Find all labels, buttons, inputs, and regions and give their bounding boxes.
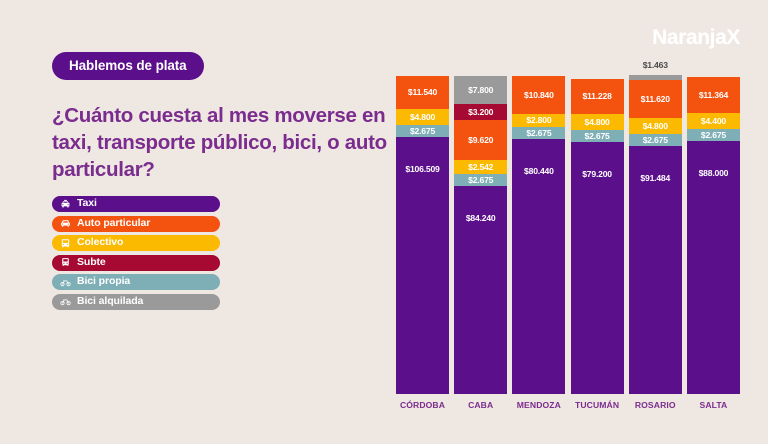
legend-item-colectivo[interactable]: Colectivo xyxy=(52,235,220,251)
bar-segment-value: $2.675 xyxy=(468,176,493,185)
bar-segment-bici_propia[interactable]: $2.675 xyxy=(512,127,565,139)
legend-item-auto_particular[interactable]: Auto particular xyxy=(52,216,220,232)
page-title: ¿Cuánto cuesta al mes moverse en taxi, t… xyxy=(52,102,392,183)
bar-segment-colectivo[interactable]: $4.800 xyxy=(396,109,449,125)
bar-segment-auto_particular[interactable]: $11.228 xyxy=(571,79,624,114)
bar-segment-taxi[interactable]: $88.000 xyxy=(687,141,740,394)
bar-segment-colectivo[interactable]: $4.400 xyxy=(687,113,740,129)
bar-segment-colectivo[interactable]: $2.800 xyxy=(512,114,565,127)
bar-column-tucumán[interactable]: $11.228$4.800$2.675$79.200 xyxy=(571,60,624,394)
bar-segment-value: $106.509 xyxy=(396,165,449,174)
x-axis-tick-córdoba: CÓRDOBA xyxy=(396,400,449,410)
x-axis-labels: CÓRDOBACABAMENDOZATUCUMÁNROSARIOSALTA xyxy=(396,400,740,420)
bar-segment-auto_particular[interactable]: $10.840 xyxy=(512,76,565,114)
x-axis-tick-caba: CABA xyxy=(454,400,507,410)
x-axis-tick-salta: SALTA xyxy=(687,400,740,410)
subway-icon xyxy=(60,257,71,268)
legend-item-taxi[interactable]: Taxi xyxy=(52,196,220,212)
bar-segment-auto_particular[interactable]: $11.364 xyxy=(687,77,740,113)
bar-segment-value: $80.440 xyxy=(512,167,565,176)
bar-segment-value: $2.800 xyxy=(526,116,551,125)
bar-segment-value: $7.800 xyxy=(468,86,493,95)
bicycle-icon xyxy=(60,277,71,288)
bar-column-rosario[interactable]: $1.463$11.620$4.800$2.675$91.484 xyxy=(629,60,682,394)
bar-column-salta[interactable]: $11.364$4.400$2.675$88.000 xyxy=(687,60,740,394)
bar-segment-auto_particular[interactable]: $9.620 xyxy=(454,120,507,160)
bar-segment-value: $11.540 xyxy=(408,88,437,97)
bar-segment-bici_propia[interactable]: $2.675 xyxy=(571,130,624,142)
bar-segment-value: $3.200 xyxy=(468,108,493,117)
naranjax-logo: NaranjaX xyxy=(652,26,740,50)
bar-segment-value: $2.675 xyxy=(585,132,610,141)
bar-segment-value: $1.463 xyxy=(623,61,688,70)
legend-item-label: Colectivo xyxy=(77,237,123,249)
legend-item-subte[interactable]: Subte xyxy=(52,255,220,271)
bar-segment-value: $2.675 xyxy=(526,129,551,138)
bus-icon xyxy=(60,238,71,249)
taxi-icon xyxy=(60,199,71,210)
stacked-bar-chart: $11.540$4.800$2.675$106.509$7.800$3.200$… xyxy=(396,60,740,420)
bar-segment-value: $91.484 xyxy=(629,174,682,183)
bar-segment-value: $4.800 xyxy=(585,118,610,127)
bar-segment-taxi[interactable]: $91.484 xyxy=(629,146,682,394)
bar-segment-bici_propia[interactable]: $2.675 xyxy=(454,174,507,186)
bar-segment-bici_propia[interactable]: $2.675 xyxy=(396,125,449,137)
chart-bars: $11.540$4.800$2.675$106.509$7.800$3.200$… xyxy=(396,60,740,394)
infographic-canvas: NaranjaX Hablemos de plata ¿Cuánto cuest… xyxy=(0,0,768,444)
bar-segment-taxi[interactable]: $80.440 xyxy=(512,139,565,394)
legend-item-label: Auto particular xyxy=(77,218,150,230)
bar-segment-value: $4.400 xyxy=(701,117,726,126)
bar-segment-value: $9.620 xyxy=(468,136,493,145)
bar-segment-taxi[interactable]: $106.509 xyxy=(396,137,449,394)
bar-segment-colectivo[interactable]: $2.542 xyxy=(454,160,507,174)
bar-segment-auto_particular[interactable]: $11.620 xyxy=(629,80,682,118)
bar-segment-auto_particular[interactable]: $11.540 xyxy=(396,76,449,109)
bar-segment-value: $79.200 xyxy=(571,170,624,179)
section-tag-badge: Hablemos de plata xyxy=(52,52,204,80)
bar-segment-value: $11.228 xyxy=(582,92,611,101)
bar-segment-value: $11.620 xyxy=(641,95,670,104)
legend-item-label: Bici alquilada xyxy=(77,296,143,308)
bar-segment-value: $2.542 xyxy=(468,163,493,172)
bar-segment-subte[interactable]: $3.200 xyxy=(454,104,507,120)
bar-column-mendoza[interactable]: $10.840$2.800$2.675$80.440 xyxy=(512,60,565,394)
bar-segment-value: $88.000 xyxy=(687,169,740,178)
legend-item-label: Bici propia xyxy=(77,276,130,288)
bar-segment-value: $10.840 xyxy=(524,91,554,100)
x-axis-tick-tucumán: TUCUMÁN xyxy=(571,400,624,410)
bar-segment-value: $4.800 xyxy=(643,122,668,131)
bar-segment-value: $4.800 xyxy=(410,113,435,122)
x-axis-tick-mendoza: MENDOZA xyxy=(512,400,565,410)
car-icon xyxy=(60,218,71,229)
bicycle-icon xyxy=(60,296,71,307)
bar-segment-taxi[interactable]: $84.240 xyxy=(454,186,507,394)
bar-segment-value: $2.675 xyxy=(643,136,668,145)
bar-segment-taxi[interactable]: $79.200 xyxy=(571,142,624,394)
bar-segment-bici_propia[interactable]: $2.675 xyxy=(687,129,740,141)
legend-item-label: Subte xyxy=(77,257,106,269)
bar-column-caba[interactable]: $7.800$3.200$9.620$2.542$2.675$84.240 xyxy=(454,60,507,394)
bar-column-córdoba[interactable]: $11.540$4.800$2.675$106.509 xyxy=(396,60,449,394)
legend-item-bici_alquilada[interactable]: Bici alquilada xyxy=(52,294,220,310)
bar-segment-value: $84.240 xyxy=(454,214,507,223)
bar-segment-value: $2.675 xyxy=(410,127,435,136)
bar-segment-bici_propia[interactable]: $2.675 xyxy=(629,134,682,146)
bar-segment-value: $2.675 xyxy=(701,131,726,140)
bar-segment-value: $11.364 xyxy=(699,91,728,100)
bar-segment-colectivo[interactable]: $4.800 xyxy=(629,118,682,134)
bar-segment-colectivo[interactable]: $4.800 xyxy=(571,114,624,130)
x-axis-tick-rosario: ROSARIO xyxy=(629,400,682,410)
bar-segment-bici_alquilada[interactable]: $7.800 xyxy=(454,76,507,104)
header-block: Hablemos de plata ¿Cuánto cuesta al mes … xyxy=(52,52,392,183)
legend-item-bici_propia[interactable]: Bici propia xyxy=(52,274,220,290)
legend-item-label: Taxi xyxy=(77,198,97,210)
chart-legend: TaxiAuto particularColectivoSubteBici pr… xyxy=(52,196,220,313)
